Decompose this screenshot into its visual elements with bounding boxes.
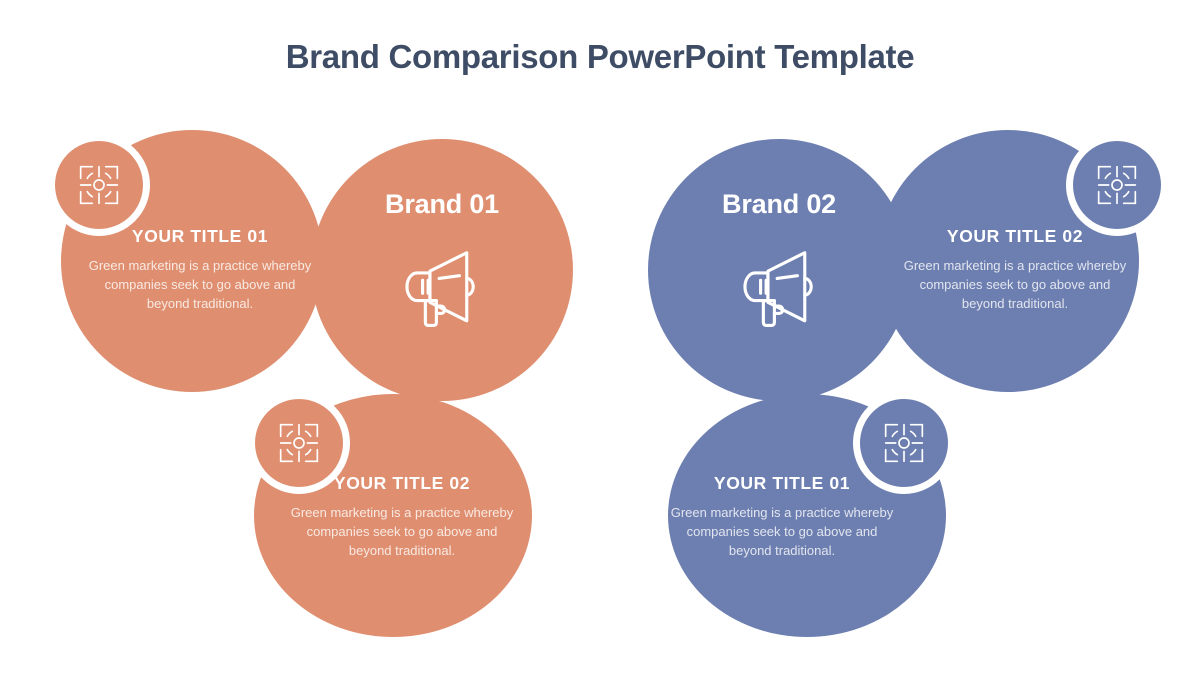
brand-02-item-1-text: YOUR TITLE 02 Green marketing is a pract… xyxy=(900,226,1130,314)
megaphone-icon xyxy=(733,238,825,330)
target-focus-icon xyxy=(1092,160,1142,210)
brand-02-label: Brand 02 xyxy=(648,189,910,220)
target-focus-icon xyxy=(74,160,124,210)
brand-02-item-2-body: Green marketing is a practice whereby co… xyxy=(667,503,897,561)
brand-02-item-1-body: Green marketing is a practice whereby co… xyxy=(900,256,1130,314)
brand-01-item-1-icon-bubble[interactable] xyxy=(48,134,150,236)
target-focus-icon xyxy=(879,418,929,468)
brand-01-item-2-text: YOUR TITLE 02 Green marketing is a pract… xyxy=(287,473,517,561)
brand-02-item-1-icon-bubble[interactable] xyxy=(1066,134,1168,236)
brand-01-item-2-body: Green marketing is a practice whereby co… xyxy=(287,503,517,561)
slide-canvas: Brand Comparison PowerPoint Template Bra… xyxy=(0,0,1200,675)
brand-01-item-1-title: YOUR TITLE 01 xyxy=(85,226,315,247)
target-focus-icon xyxy=(274,418,324,468)
brand-02-item-1-title: YOUR TITLE 02 xyxy=(900,226,1130,247)
brand-02-cluster: Brand 02 xyxy=(600,0,1200,675)
brand-01-item-1-text: YOUR TITLE 01 Green marketing is a pract… xyxy=(85,226,315,314)
brand-01-item-1-body: Green marketing is a practice whereby co… xyxy=(85,256,315,314)
brand-02-item-2-title: YOUR TITLE 01 xyxy=(667,473,897,494)
brand-02-item-2-text: YOUR TITLE 01 Green marketing is a pract… xyxy=(667,473,897,561)
brand-01-cluster: Brand 01 xyxy=(0,0,600,675)
brand-01-item-2-title: YOUR TITLE 02 xyxy=(287,473,517,494)
brand-01-label: Brand 01 xyxy=(311,189,573,220)
megaphone-icon xyxy=(395,238,487,330)
